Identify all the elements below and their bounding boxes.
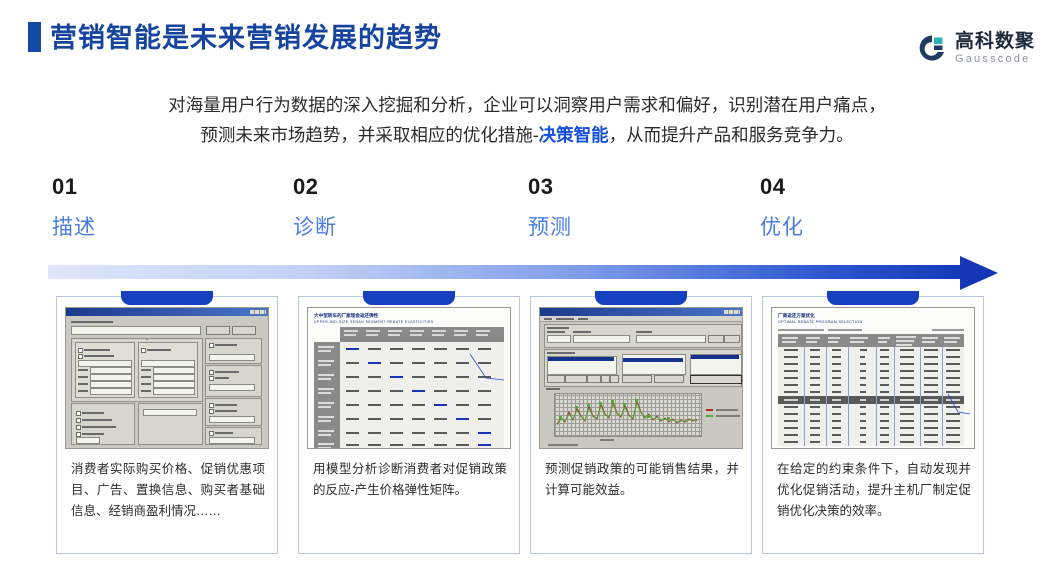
step-number: 03 bbox=[528, 174, 748, 200]
step-list: 01 描述 02 诊断 03 预测 04 优化 bbox=[52, 174, 1012, 249]
step-item-01: 01 描述 bbox=[52, 174, 272, 241]
card-caption: 预测促销政策的可能销售结果，并计算可能效益。 bbox=[545, 459, 739, 501]
window-titlebar bbox=[66, 308, 268, 316]
card-tab bbox=[363, 291, 455, 305]
card-tab bbox=[121, 291, 213, 305]
step-number: 04 bbox=[760, 174, 980, 200]
step-item-04: 04 优化 bbox=[760, 174, 980, 241]
legend-swatch-actual bbox=[706, 415, 713, 417]
page-title: 营销智能是未来营销发展的趋势 bbox=[50, 16, 442, 55]
step-number: 02 bbox=[293, 174, 513, 200]
card-diagnose[interactable]: 大中型轿车的厂家现金返还弹性 UPPER MID-SIZE SEDAN SEGM… bbox=[298, 296, 520, 554]
intro-line-2b: ，从而提升产品和服务竞争力。 bbox=[609, 125, 854, 145]
slide-header: 营销智能是未来营销发展的趋势 高科数聚 Gausscode bbox=[0, 14, 1051, 62]
brand-name-cn: 高科数聚 bbox=[955, 32, 1035, 51]
legend-swatch-sim bbox=[706, 409, 713, 411]
intro-line-1: 对海量用户行为数据的深入挖掘和分析，企业可以洞察用户需求和偏好，识别潜在用户痛点… bbox=[168, 95, 886, 115]
screenshot-simulation-results-chart bbox=[539, 307, 743, 449]
card-describe[interactable]: 消费者实际购买价格、促销优惠项目、广告、置换信息、购买者基础信息、经销商盈利情况… bbox=[56, 296, 278, 554]
step-label: 诊断 bbox=[293, 211, 513, 241]
intro-line-2a: 预测未来市场趋势，并采取相应的优化措施- bbox=[200, 125, 538, 145]
screenshot-rebate-elasticity-matrix: 大中型轿车的厂家现金返还弹性 UPPER MID-SIZE SEDAN SEGM… bbox=[307, 307, 511, 449]
arrow-head-icon bbox=[960, 256, 998, 290]
step-item-03: 03 预测 bbox=[528, 174, 748, 241]
card-predict[interactable]: 预测促销政策的可能销售结果，并计算可能效益。 bbox=[530, 296, 752, 554]
step-label: 预测 bbox=[528, 211, 748, 241]
brand-name-en: Gausscode bbox=[955, 54, 1035, 65]
window-titlebar bbox=[540, 308, 742, 316]
card-caption: 消费者实际购买价格、促销优惠项目、广告、置换信息、购买者基础信息、经销商盈利情况… bbox=[71, 459, 265, 522]
card-tab bbox=[595, 291, 687, 305]
arrow-body bbox=[48, 265, 970, 279]
intro-highlight: 决策智能 bbox=[539, 125, 609, 145]
slide-root: 营销智能是未来营销发展的趋势 高科数聚 Gausscode 对海量用户行为数据的… bbox=[0, 0, 1051, 586]
card-caption: 在给定的约束条件下，自动发现并优化促销活动，提升主机厂制定促销优化决策的效率。 bbox=[777, 459, 971, 522]
card-list: 消费者实际购买价格、促销优惠项目、广告、置换信息、购买者基础信息、经销商盈利情况… bbox=[0, 296, 1051, 566]
step-label: 优化 bbox=[760, 211, 980, 241]
screenshot-optimal-rebate-program-table: 厂商返还方案优化 OPTIMAL REBATE PROGRAM SELECTIO… bbox=[771, 307, 975, 449]
card-optimize[interactable]: 厂商返还方案优化 OPTIMAL REBATE PROGRAM SELECTIO… bbox=[762, 296, 984, 554]
step-item-02: 02 诊断 bbox=[293, 174, 513, 241]
step-number: 01 bbox=[52, 174, 272, 200]
intro-paragraph: 对海量用户行为数据的深入挖掘和分析，企业可以洞察用户需求和偏好，识别潜在用户痛点… bbox=[52, 90, 1002, 150]
gausscode-logo-icon bbox=[917, 33, 947, 63]
step-label: 描述 bbox=[52, 211, 272, 241]
screenshot-program-description-dialog bbox=[65, 307, 269, 449]
brand-logo: 高科数聚 Gausscode bbox=[917, 26, 1035, 70]
title-accent-bar bbox=[28, 22, 41, 52]
brand-text: 高科数聚 Gausscode bbox=[955, 32, 1035, 65]
card-caption: 用模型分析诊断消费者对促销政策的反应-产生价格弹性矩阵。 bbox=[313, 459, 507, 501]
card-tab bbox=[827, 291, 919, 305]
progress-arrow bbox=[48, 262, 1008, 284]
